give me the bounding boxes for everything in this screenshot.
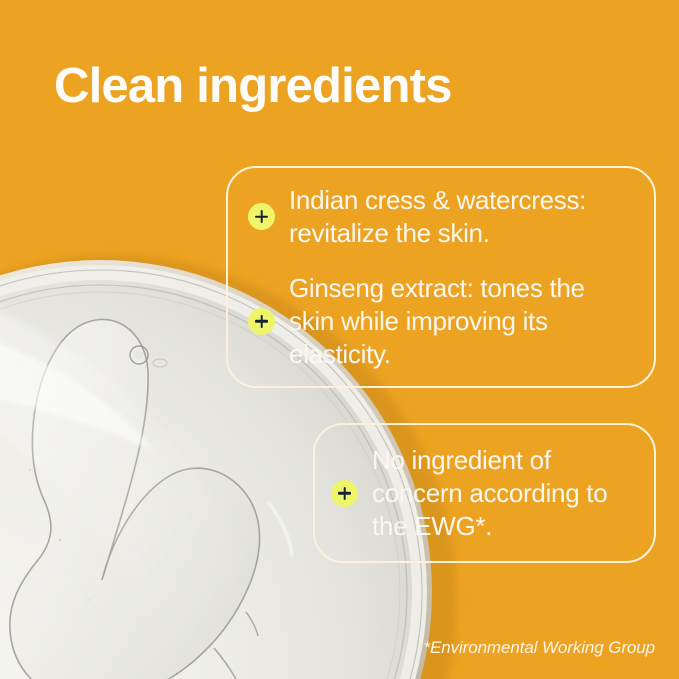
list-item: Ginseng extract: tones the skin while im… (248, 272, 628, 371)
footnote-text: *Environmental Working Group (423, 638, 655, 658)
list-item-label: Indian cress & watercress: revitalize th… (289, 184, 628, 250)
ewg-card: No ingredient of concern according to th… (313, 423, 656, 563)
list-item: No ingredient of concern according to th… (331, 444, 632, 543)
ingredients-card: Indian cress & watercress: revitalize th… (226, 166, 656, 388)
plus-badge-icon (248, 308, 275, 335)
plus-badge-icon (248, 203, 275, 230)
list-item-label: Ginseng extract: tones the skin while im… (289, 272, 628, 371)
poster-canvas: Clean ingredients Indian cress & watercr… (0, 0, 679, 679)
list-item-label: No ingredient of concern according to th… (372, 444, 632, 543)
list-item: Indian cress & watercress: revitalize th… (248, 184, 628, 250)
plus-badge-icon (331, 480, 358, 507)
page-title: Clean ingredients (54, 59, 452, 114)
